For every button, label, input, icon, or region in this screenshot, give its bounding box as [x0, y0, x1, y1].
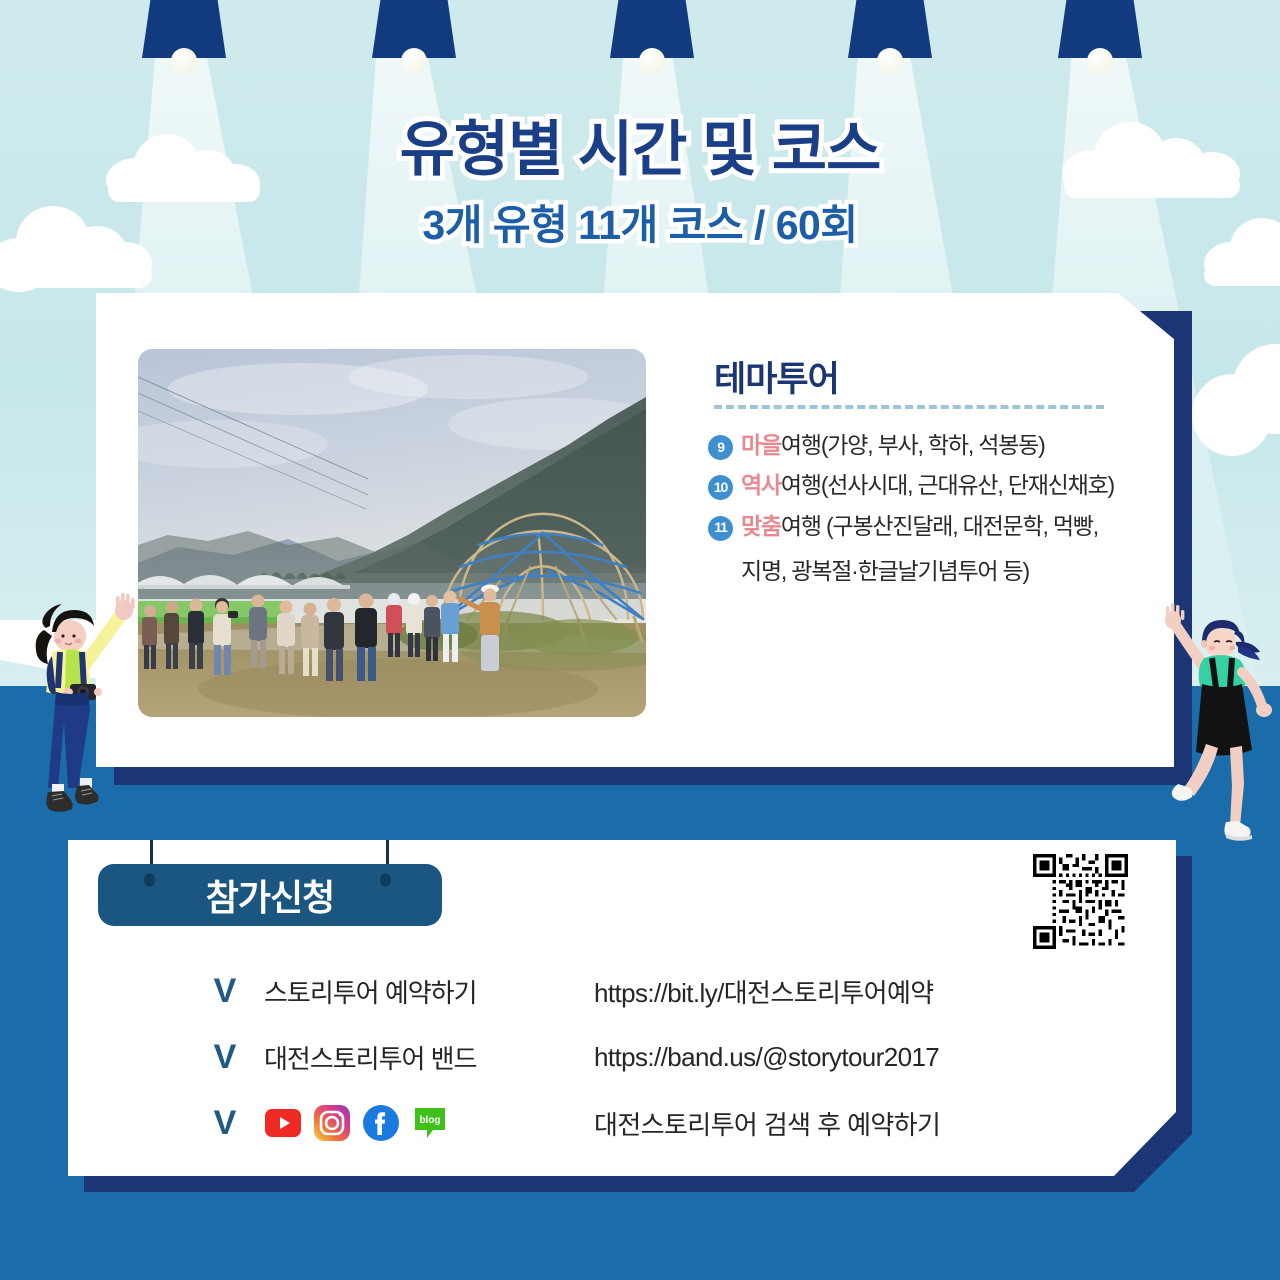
title-subtitle: 3개 유형 11개 코스 / 60회: [0, 191, 1280, 251]
link-url[interactable]: https://band.us/@storytour2017: [594, 1042, 939, 1073]
social-icon-group: blog: [264, 1104, 594, 1142]
application-card: 참가신청: [68, 840, 1192, 1180]
naver-blog-icon[interactable]: blog: [411, 1104, 449, 1142]
theme-tour-card: 테마투어 9 마을여행(가양, 부사, 학하, 석봉동) 10 역사여행(선사시…: [96, 293, 1192, 773]
link-url[interactable]: 대전스토리투어 검색 후 예약하기: [594, 1105, 940, 1142]
badge-number: 10: [708, 475, 733, 500]
hanging-sign: 참가신청: [98, 828, 448, 938]
spotlight-lamp-5: [1058, 0, 1142, 74]
card-white-surface: 테마투어 9 마을여행(가양, 부사, 학하, 석봉동) 10 역사여행(선사시…: [96, 293, 1174, 767]
dashed-divider: [714, 405, 1104, 409]
sign-hole-left: [144, 873, 155, 887]
highlight-word: 맞춤: [741, 513, 781, 539]
page-title: 유형별 시간 및 코스 3개 유형 11개 코스 / 60회: [0, 118, 1280, 251]
youtube-icon[interactable]: [264, 1104, 302, 1142]
sign-label: 참가신청: [206, 869, 334, 921]
check-icon: V: [208, 974, 242, 1008]
sign-plate: 참가신청: [98, 864, 442, 926]
tour-photo: [138, 349, 646, 717]
girl-waving-character: [1146, 592, 1280, 844]
list-item: 9 마을여행(가양, 부사, 학하, 석봉동): [708, 431, 1178, 460]
qr-code[interactable]: [1033, 854, 1128, 949]
list-item-rest: 여행(선사시대, 근대유산, 단재신채호): [781, 472, 1114, 498]
facebook-icon[interactable]: [362, 1104, 400, 1142]
link-row[interactable]: V 대전스토리투어 밴드 https://band.us/@storytour2…: [208, 1024, 1148, 1090]
section-title-theme-tour: 테마투어: [714, 351, 839, 402]
tourist-waving-character: [8, 588, 158, 834]
svg-text:blog: blog: [419, 1115, 440, 1126]
spotlight-lamp-2: [372, 0, 456, 74]
title-main: 유형별 시간 및 코스: [0, 118, 1280, 183]
highlight-word: 마을: [741, 432, 781, 458]
instagram-icon[interactable]: [313, 1104, 351, 1142]
list-item-rest: 여행 (구봉산진달래, 대전문학, 먹빵,: [781, 513, 1098, 539]
link-row[interactable]: V 스토리투어 예약하기 https://bit.ly/대전스토리투어예약: [208, 958, 1148, 1024]
list-item-text: 맞춤여행 (구봉산진달래, 대전문학, 먹빵,: [741, 512, 1098, 541]
list-item-rest: 여행(가양, 부사, 학하, 석봉동): [781, 432, 1045, 458]
check-icon: V: [208, 1106, 242, 1140]
badge-number: 11: [708, 516, 733, 541]
sign-hole-right: [380, 873, 391, 887]
link-label: 대전스토리투어 밴드: [264, 1039, 594, 1076]
list-item: 10 역사여행(선사시대, 근대유산, 단재신채호): [708, 471, 1178, 500]
tour-list: 9 마을여행(가양, 부사, 학하, 석봉동) 10 역사여행(선사시대, 근대…: [708, 431, 1178, 586]
link-row[interactable]: V: [208, 1090, 1148, 1156]
spotlight-lamp-1: [142, 0, 226, 74]
bottom-card-white-surface: 참가신청: [68, 840, 1176, 1176]
poster-stage: 유형별 시간 및 코스 3개 유형 11개 코스 / 60회: [0, 0, 1280, 1280]
spotlight-lamp-4: [848, 0, 932, 74]
link-url[interactable]: https://bit.ly/대전스토리투어예약: [594, 973, 934, 1010]
cloud-5: [1192, 330, 1280, 456]
list-item-text: 역사여행(선사시대, 근대유산, 단재신채호): [741, 471, 1114, 500]
check-icon: V: [208, 1040, 242, 1074]
list-item: 11 맞춤여행 (구봉산진달래, 대전문학, 먹빵,: [708, 512, 1178, 541]
spotlight-lamp-3: [610, 0, 694, 74]
list-item-text: 마을여행(가양, 부사, 학하, 석봉동): [741, 431, 1045, 460]
link-list: V 스토리투어 예약하기 https://bit.ly/대전스토리투어예약 V …: [208, 958, 1148, 1156]
list-item-continuation: 지명, 광복절·한글날기념투어 등): [741, 552, 1178, 586]
badge-number: 9: [708, 435, 733, 460]
highlight-word: 역사: [741, 472, 781, 498]
link-label: 스토리투어 예약하기: [264, 973, 594, 1010]
